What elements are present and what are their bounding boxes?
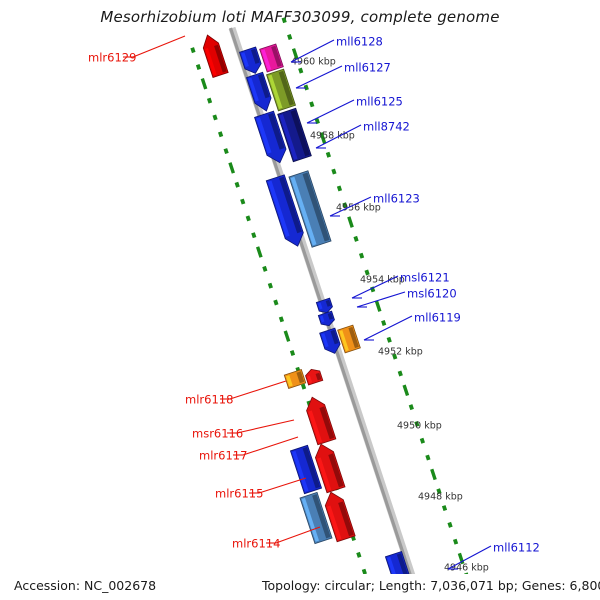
right-rail-tick: [358, 552, 360, 557]
right-rail-tick: [264, 266, 266, 271]
gene-label-mll6119[interactable]: mll6119: [364, 311, 461, 341]
gene-label-text[interactable]: mll6112: [493, 541, 540, 555]
gene-label-text[interactable]: mlr6115: [215, 487, 263, 501]
left-rail-tick: [289, 35, 291, 40]
left-rail-tick: [404, 385, 407, 395]
right-rail-tick: [202, 79, 205, 89]
leader-line: [364, 316, 412, 340]
gene-label-text[interactable]: msl6121: [400, 271, 450, 285]
status-bar: Accession: NC_002678 Topology: circular;…: [0, 574, 600, 600]
left-rail-tick: [376, 301, 379, 311]
leader-line: [243, 437, 298, 455]
genome-summary-text: Topology: circular; Length: 7,036,071 bp…: [262, 578, 600, 593]
gene-label-text[interactable]: mlr6118: [185, 393, 233, 407]
leader-line: [307, 100, 354, 123]
left-rail-tick: [283, 18, 285, 23]
right-rail-tick: [281, 317, 283, 322]
left-rail-tick: [383, 321, 385, 326]
gene-mlr6115-blue[interactable]: [290, 445, 321, 493]
left-rail-tick: [355, 237, 357, 242]
left-rail-tick: [333, 169, 335, 174]
right-rail-tick: [270, 283, 272, 288]
right-rail-tick: [253, 233, 255, 238]
gene-label-text[interactable]: mll6127: [344, 61, 391, 75]
left-rail-tick: [328, 152, 330, 157]
right-rail-tick: [236, 182, 238, 187]
gene-label-text[interactable]: mlr6114: [232, 537, 280, 551]
leader-line: [230, 381, 286, 399]
gene-mll6128-magenta[interactable]: [260, 44, 284, 72]
right-rail-tick: [230, 163, 233, 173]
gene-label-mlr6117[interactable]: mlr6117: [199, 437, 298, 463]
left-rail-tick: [349, 217, 352, 227]
coordinate-label: 4948 kbp: [418, 492, 463, 503]
gene-label-text[interactable]: mlr6117: [199, 449, 247, 463]
left-rail-tick: [411, 405, 413, 410]
coordinate-label: 4952 kbp: [378, 347, 423, 358]
right-rail-tick: [292, 351, 294, 356]
right-rail-tick: [247, 216, 249, 221]
right-rail-tick: [220, 132, 222, 137]
left-rail-tick: [311, 102, 313, 107]
right-rail-tick: [275, 300, 277, 305]
right-rail-tick: [198, 65, 200, 70]
right-rail-tick: [303, 384, 305, 389]
leader-line: [357, 292, 405, 307]
leader-line: [133, 36, 185, 57]
right-rail-tick: [214, 115, 216, 120]
gene-label-mlr6129[interactable]: mlr6129: [88, 36, 185, 65]
coordinate-label: 4950 kbp: [397, 421, 442, 432]
right-rail-tick: [258, 247, 261, 257]
left-rail-tick: [455, 539, 457, 544]
genome-map-viewer[interactable]: Mesorhizobium loti MAFF303099, complete …: [0, 0, 600, 600]
gene-label-text[interactable]: mll6123: [373, 192, 420, 206]
gene-label-mlr6118[interactable]: mlr6118: [185, 381, 286, 407]
gene-mll6127-olive[interactable]: [267, 69, 296, 111]
gene-label-text[interactable]: mll6128: [336, 35, 383, 49]
leader-line: [259, 478, 306, 493]
left-rail-tick: [361, 253, 363, 258]
gene-label-text[interactable]: msr6116: [192, 427, 243, 441]
left-rail-tick: [400, 371, 402, 376]
right-rail-tick: [285, 331, 288, 341]
right-rail-tick: [225, 149, 227, 154]
genome-map-canvas[interactable]: 4960 kbp4958 kbp4956 kbp4954 kbp4952 kbp…: [0, 0, 600, 600]
gene-label-text[interactable]: mll8742: [363, 120, 410, 134]
leader-line: [296, 66, 342, 88]
right-rail-tick: [209, 98, 211, 103]
gene-features-group: [200, 33, 416, 600]
gene-label-text[interactable]: msl6120: [407, 287, 457, 301]
left-rail-tick: [449, 523, 451, 528]
right-rail-tick: [242, 199, 244, 204]
gene-label-mlr6114[interactable]: mlr6114: [232, 527, 320, 551]
left-rail-tick: [432, 469, 435, 479]
left-rail-tick: [444, 506, 446, 511]
left-rail-tick: [422, 438, 424, 443]
gene-mlr6118-red[interactable]: [304, 367, 323, 385]
gene-label-text[interactable]: mll6119: [414, 311, 461, 325]
leader-line: [237, 420, 294, 433]
left-rail-tick: [427, 455, 429, 460]
gene-mlr6129[interactable]: [200, 33, 228, 78]
right-rail-tick: [192, 48, 194, 53]
accession-text: Accession: NC_002678: [14, 578, 156, 593]
gene-label-mlr6115[interactable]: mlr6115: [215, 478, 306, 501]
left-rail-tick: [388, 337, 390, 342]
left-rail-tick: [300, 68, 302, 73]
left-rail-tick: [339, 186, 341, 191]
gene-label-text[interactable]: mlr6129: [88, 51, 136, 65]
gene-label-text[interactable]: mll6125: [356, 95, 403, 109]
gene-label-msr6116[interactable]: msr6116: [192, 420, 294, 441]
